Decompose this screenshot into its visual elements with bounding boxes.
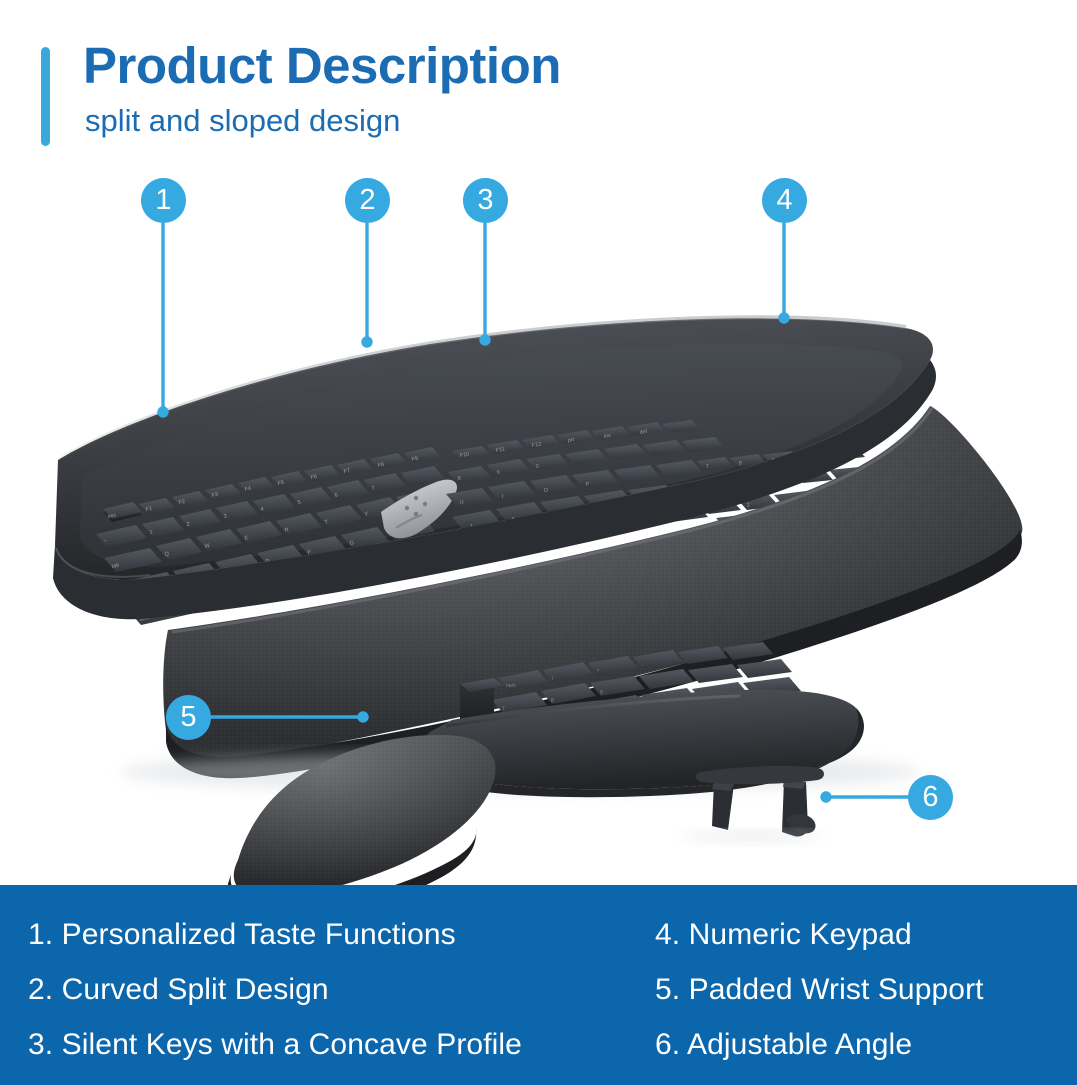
page-subtitle: split and sloped design: [85, 103, 400, 139]
header: Product Description split and sloped des…: [0, 0, 1077, 165]
svg-text:F7: F7: [343, 468, 350, 475]
product-stage: esc F1 F2 F3 F4 F5 F6 F7 F8 F9 ~ 1 2 3: [0, 160, 1077, 885]
feature-item-6: 6. Adjustable Angle: [655, 1017, 1075, 1072]
svg-text:7: 7: [502, 706, 505, 712]
svg-text:F3: F3: [211, 492, 218, 499]
page-title: Product Description: [83, 38, 561, 94]
svg-text:F6: F6: [310, 474, 317, 481]
svg-text:8: 8: [551, 698, 554, 704]
svg-text:F8: F8: [377, 462, 384, 469]
feature-item-2: 2. Curved Split Design: [28, 962, 628, 1017]
callout-badge-3-label: 3: [477, 186, 493, 215]
svg-text:num: num: [506, 683, 516, 689]
svg-text:F2: F2: [178, 499, 185, 506]
feature-item-4: 4. Numeric Keypad: [655, 907, 1075, 962]
svg-text:F9: F9: [411, 456, 418, 463]
feature-column-left: 1. Personalized Taste Functions 2. Curve…: [28, 885, 628, 1072]
callout-badge-4[interactable]: 4: [762, 178, 807, 223]
callout-badge-6[interactable]: 6: [908, 775, 953, 820]
callout-badge-2[interactable]: 2: [345, 178, 390, 223]
feature-column-right: 4. Numeric Keypad 5. Padded Wrist Suppor…: [655, 885, 1075, 1072]
callout-badge-3[interactable]: 3: [463, 178, 508, 223]
svg-text:F1: F1: [145, 506, 152, 513]
svg-text:9: 9: [600, 690, 603, 696]
callout-badge-1-label: 1: [155, 186, 171, 215]
callout-badge-2-label: 2: [359, 186, 375, 215]
infographic-page: Product Description split and sloped des…: [0, 0, 1077, 1085]
accent-bar: [41, 47, 50, 146]
callout-badge-5-label: 5: [180, 703, 196, 732]
product-illustration: esc F1 F2 F3 F4 F5 F6 F7 F8 F9 ~ 1 2 3: [0, 160, 1077, 885]
callout-badge-1[interactable]: 1: [141, 178, 186, 223]
feature-list-panel: 1. Personalized Taste Functions 2. Curve…: [0, 885, 1077, 1085]
adjustable-tilt-legs: [682, 766, 824, 842]
svg-text:*: *: [597, 669, 599, 675]
callout-badge-4-label: 4: [776, 186, 792, 215]
svg-text:F4: F4: [244, 486, 251, 493]
svg-text:F5: F5: [277, 480, 284, 487]
feature-item-1: 1. Personalized Taste Functions: [28, 907, 628, 962]
feature-item-3: 3. Silent Keys with a Concave Profile: [28, 1017, 628, 1072]
feature-item-5: 5. Padded Wrist Support: [655, 962, 1075, 1017]
callout-badge-5[interactable]: 5: [166, 695, 211, 740]
svg-text:del: del: [639, 429, 647, 436]
svg-text:ins: ins: [603, 433, 611, 440]
callout-badge-6-label: 6: [922, 783, 938, 812]
